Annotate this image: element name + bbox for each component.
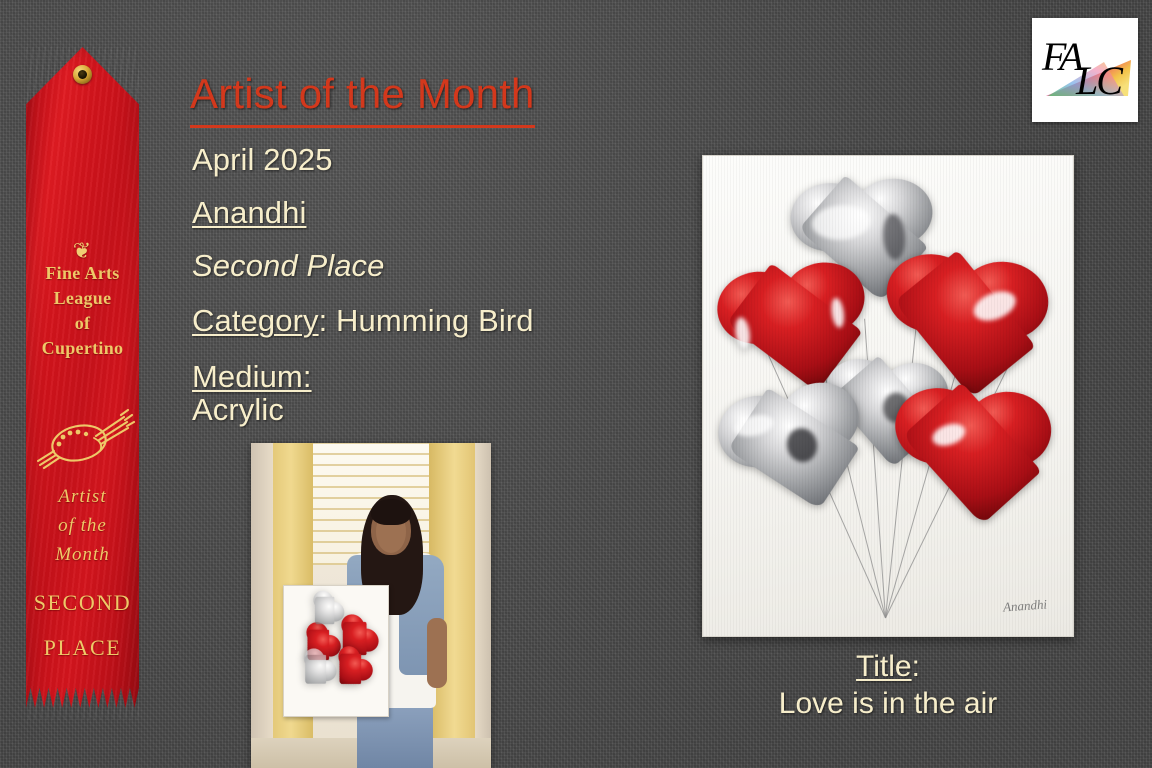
artwork-title-block: Title: Love is in the air: [702, 648, 1074, 722]
ribbon-league-line-3: of: [26, 311, 139, 336]
ribbon-flourish-icon: ❦: [26, 240, 139, 262]
date-text: April 2025: [192, 142, 333, 178]
ribbon-award-line-1: Artist: [26, 482, 139, 511]
category-separator: :: [319, 303, 336, 338]
category-value: Humming Bird: [336, 303, 534, 338]
photo-wall-right: [475, 443, 491, 768]
medium-label: Medium:: [192, 359, 312, 394]
page-title: Artist of the Month: [190, 68, 535, 128]
award-placement-text: Second Place: [192, 248, 385, 284]
medium-label-text: Medium:: [192, 359, 312, 395]
ribbon-grommet-icon: [73, 65, 92, 84]
ribbon-league-line-4: Cupertino: [26, 336, 139, 361]
ribbon-league-line-1: Fine Arts: [26, 261, 139, 286]
ribbon-place-text: SECOND PLACE: [26, 580, 139, 670]
artwork-signature: Anandhi: [1002, 596, 1047, 615]
photo-person-hair-front: [371, 499, 411, 525]
artwork-image: Anandhi: [702, 155, 1074, 637]
award-ribbon: ❦ Fine Arts League of Cupertino: [26, 47, 139, 724]
artwork-title-label-row: Title:: [702, 648, 1074, 685]
photo-wall-left: [251, 443, 273, 768]
artist-name-value: Anandhi: [192, 195, 306, 230]
artwork-title-label: Title: [856, 650, 912, 683]
ribbon-place-line-1: SECOND: [26, 580, 139, 625]
ribbon-award-line-2: of the: [26, 511, 139, 540]
artwork-title-separator: :: [912, 650, 920, 683]
category-label: Category: [192, 303, 319, 338]
medium-value-text: Acrylic: [192, 392, 284, 428]
ribbon-award-line-3: Month: [26, 540, 139, 569]
ribbon-league-text: Fine Arts League of Cupertino: [26, 261, 139, 361]
svg-text:LC: LC: [1075, 58, 1124, 103]
photo-held-painting: [283, 585, 389, 717]
artwork-title-value: Love is in the air: [702, 685, 1074, 722]
falc-logo: FA LC: [1032, 18, 1138, 122]
artist-photo: [251, 443, 491, 768]
ribbon-place-line-2: PLACE: [26, 625, 139, 670]
palette-with-brushes-icon: [26, 407, 139, 478]
category-text: Category: Humming Bird: [192, 303, 534, 339]
balloon-heart-red-bottom: [885, 374, 1058, 528]
artist-name-text: Anandhi: [192, 195, 306, 231]
ribbon-award-text: Artist of the Month: [26, 482, 139, 569]
ribbon-league-line-2: League: [26, 286, 139, 311]
photo-person-arm: [427, 618, 447, 688]
slide-canvas: ❦ Fine Arts League of Cupertino: [0, 0, 1152, 768]
